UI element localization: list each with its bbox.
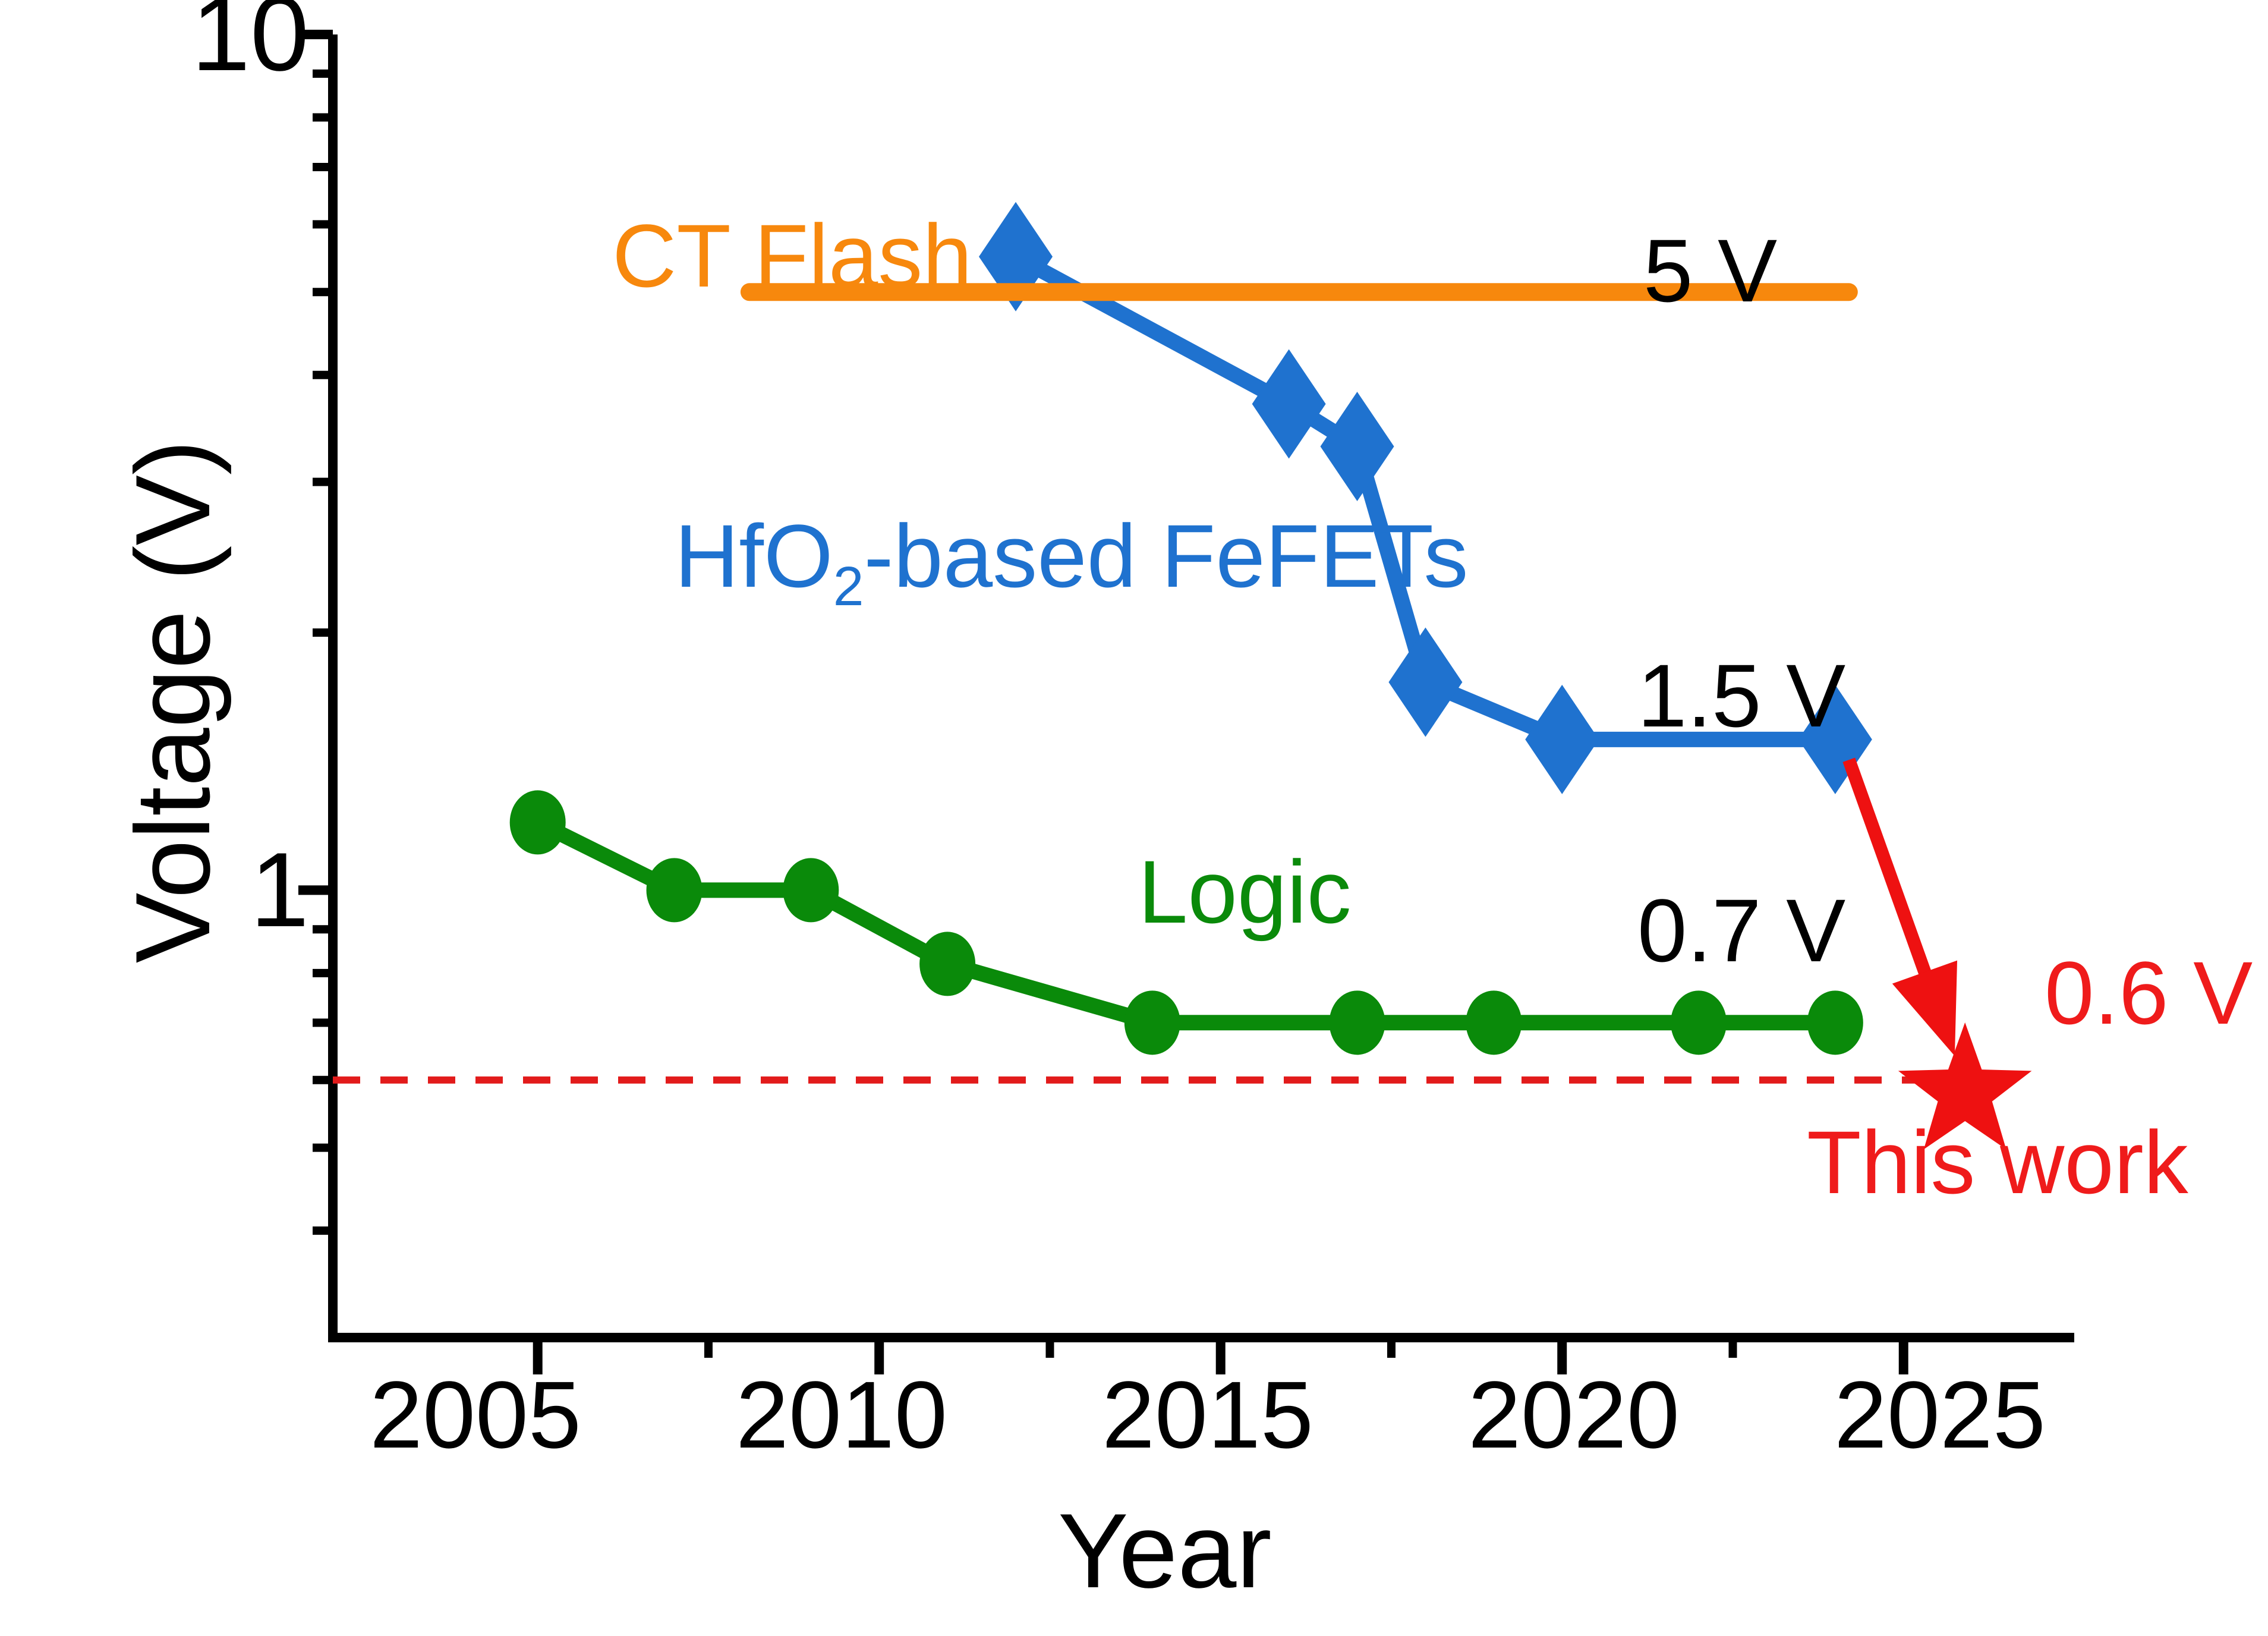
annotation-hfo2-fefets: HfO2-based FeFETs [675, 511, 1468, 600]
arrow-shaft [1849, 760, 1930, 986]
data-point-circle [1807, 990, 1863, 1055]
data-point-circle [1330, 990, 1385, 1055]
data-point-diamond [1388, 628, 1462, 737]
data-point-circle [783, 858, 839, 922]
x-tick-label-2005: 2005 [370, 1367, 581, 1462]
annotation-5v: 5 V [1643, 226, 1777, 315]
data-point-circle [919, 932, 975, 996]
data-point-circle [1466, 990, 1522, 1055]
x-tick-label-2010: 2010 [736, 1367, 947, 1462]
chart-figure: Voltage (V) Year 10 1 2005 2010 2015 202… [0, 0, 2268, 1636]
annotation-ct-flash: CT Flash [612, 211, 972, 300]
annotation-hfo2-subscript: 2 [833, 555, 864, 617]
data-point-diamond [1321, 392, 1394, 501]
y-tick-label-10: 10 [178, 0, 309, 87]
annotation-logic: Logic [1138, 847, 1352, 936]
data-point-circle [1671, 990, 1727, 1055]
annotation-hfo2-suffix: -based FeFETs [864, 506, 1468, 606]
data-point-circle [647, 858, 703, 922]
arrow-head [1892, 961, 1957, 1056]
x-tick-label-2020: 2020 [1468, 1367, 1680, 1462]
annotation-1-5v: 1.5 V [1637, 651, 1845, 740]
annotation-this-work: This work [1807, 1118, 2188, 1207]
y-axis-ticks [298, 34, 333, 1231]
annotation-0-7v: 0.7 V [1637, 886, 1845, 975]
this-work-arrow [1849, 760, 1957, 1056]
data-point-circle [510, 790, 566, 854]
annotation-hfo2-prefix: HfO [675, 506, 833, 606]
data-point-diamond [1525, 685, 1599, 794]
x-tick-label-2025: 2025 [1834, 1367, 2046, 1462]
x-tick-label-2015: 2015 [1102, 1367, 1313, 1462]
annotation-0-6v: 0.6 V [2045, 948, 2253, 1037]
data-point-diamond [1252, 350, 1326, 459]
x-axis-title: Year [1058, 1498, 1272, 1604]
y-tick-label-1: 1 [178, 837, 309, 943]
data-point-circle [1124, 990, 1180, 1055]
